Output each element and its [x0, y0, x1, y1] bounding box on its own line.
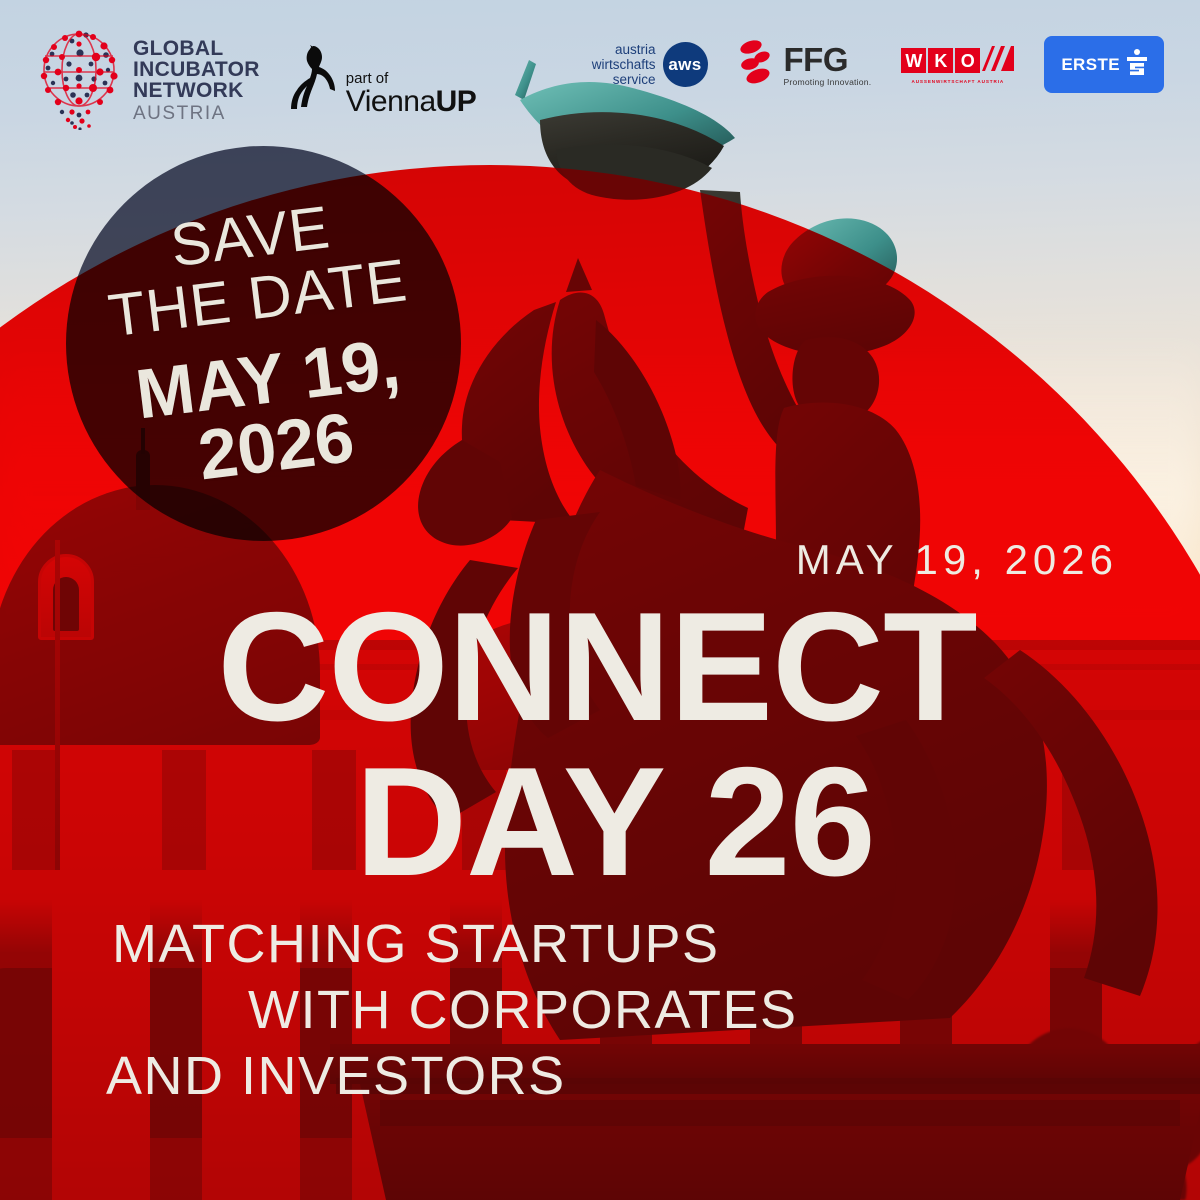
gin-line-austria: AUSTRIA — [133, 104, 260, 123]
save-the-date-badge-text: SAVE THE DATE MAY 19, 2026 — [43, 123, 483, 563]
page-title: CONNECT DAY 26 — [0, 600, 1200, 889]
rearing-horse-icon — [286, 44, 340, 117]
wko-letter-o: O — [955, 48, 980, 73]
header-right-logos: austria wirtschafts service aws FFG Prom… — [592, 36, 1164, 93]
viennaup-brand: ViennaUP — [346, 87, 477, 117]
logo-viennaup[interactable]: part of ViennaUP — [286, 44, 477, 117]
aws-circle-mark: aws — [663, 42, 708, 87]
gin-line-network: NETWORK — [133, 80, 260, 101]
event-date: MAY 19, 2026 — [796, 536, 1118, 584]
ffg-wordmark: FFG Promoting Innovation. — [784, 43, 872, 87]
logo-ffg[interactable]: FFG Promoting Innovation. — [738, 38, 872, 91]
header-left-logos: GLOBAL INCUBATOR NETWORK AUSTRIA part of… — [36, 26, 476, 135]
logo-global-incubator-network[interactable]: GLOBAL INCUBATOR NETWORK AUSTRIA — [36, 26, 260, 135]
viennaup-wordmark: part of ViennaUP — [346, 71, 477, 117]
logo-aws[interactable]: austria wirtschafts service aws — [592, 42, 708, 88]
aws-wordmark: austria wirtschafts service — [592, 42, 656, 88]
title-line-connect: CONNECT — [0, 600, 1200, 733]
gin-line-incubator: INCUBATOR — [133, 59, 260, 80]
subtitle-line-2: WITH CORPORATES — [0, 978, 1200, 1044]
aws-line-austria: austria — [615, 42, 656, 57]
wko-letter-w: W — [901, 48, 926, 73]
badge-line-year: 2026 — [194, 402, 357, 490]
erste-wordmark: ERSTE — [1061, 55, 1120, 75]
ffg-dots-icon — [738, 38, 778, 91]
page-subtitle: MATCHING STARTUPS WITH CORPORATES AND IN… — [0, 912, 1200, 1110]
aws-line-wirtschafts: wirtschafts — [592, 57, 656, 72]
ffg-mark: FFG — [784, 43, 872, 76]
wko-letter-k: K — [928, 48, 953, 73]
title-line-day-26: DAY 26 — [0, 755, 1200, 888]
ffg-tagline: Promoting Innovation. — [784, 78, 872, 87]
erste-s-icon — [1127, 49, 1147, 80]
viennaup-part-of: part of — [346, 71, 477, 86]
wko-subline: AUSSENWIRTSCHAFT AUSTRIA — [901, 79, 1014, 84]
wko-letter-row: W K O — [901, 46, 1014, 76]
subtitle-line-1: MATCHING STARTUPS — [0, 912, 1200, 978]
gin-wordmark: GLOBAL INCUBATOR NETWORK AUSTRIA — [133, 38, 260, 123]
poster-canvas: SAVE THE DATE MAY 19, 2026 — [0, 0, 1200, 1200]
logo-wko[interactable]: W K O AUSSENWIRTSCHAFT AUSTRIA — [901, 46, 1014, 84]
globe-dots-icon — [36, 26, 122, 135]
gin-line-global: GLOBAL — [133, 38, 260, 59]
wko-slash-icon — [982, 46, 1014, 76]
subtitle-line-3: AND INVESTORS — [0, 1044, 1200, 1110]
logo-erste[interactable]: ERSTE — [1044, 36, 1164, 93]
aws-line-service: service — [613, 72, 656, 87]
